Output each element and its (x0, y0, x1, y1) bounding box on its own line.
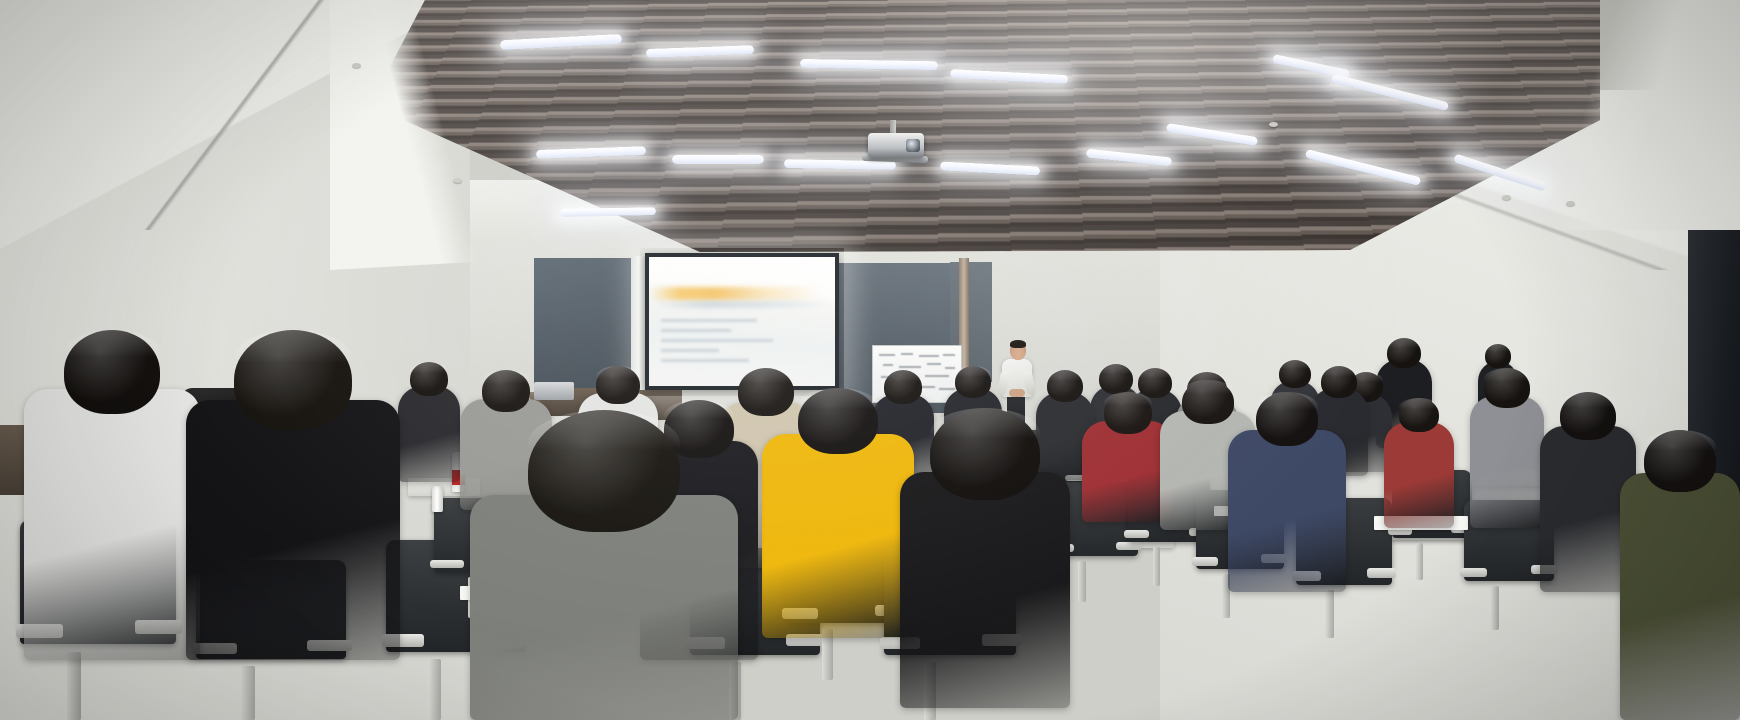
attendee-grey-hood-center-hair-highlight (528, 410, 680, 477)
attendee-red-standing (1384, 398, 1454, 528)
chair-14-base (1491, 586, 1499, 630)
smoke-detector-1-icon (352, 63, 361, 68)
whiteboard-mark-1 (879, 354, 895, 356)
whiteboard-mark-6 (899, 366, 921, 368)
seminar-room-photo (0, 0, 1740, 720)
whiteboard-mark-7 (927, 363, 941, 365)
tube-14 (560, 207, 656, 217)
attendee-yellow-jacket (762, 388, 914, 638)
attendee-stripe-shirt-hair-highlight (482, 370, 530, 393)
attendee-navy-right (1228, 392, 1346, 592)
chair-11-arm-left (1192, 557, 1218, 566)
attendee-far-right-1 (1470, 368, 1544, 528)
attendee-yellow-jacket-torso (762, 434, 914, 638)
tube-8 (672, 155, 764, 164)
attendee-dark-1-hair-highlight (955, 366, 991, 384)
smoke-detector-3-icon (1269, 122, 1278, 127)
chair-10-base (1153, 547, 1160, 586)
water-bottle-small (432, 486, 443, 512)
attendee-dark-suit-left (398, 362, 460, 482)
chair-4-arm-left (430, 560, 464, 568)
chair-14-arm-left (1460, 568, 1487, 577)
attendee-far-right-3 (1620, 430, 1740, 720)
whiteboard-mark-5 (883, 364, 893, 366)
slide-text-line-3 (661, 339, 773, 342)
chair-2-base (241, 666, 255, 720)
slide-text-line-5 (661, 359, 749, 362)
attendee-back-wall-black-hair-highlight (1387, 338, 1421, 355)
attendee-yellow-jacket-hair-highlight (798, 388, 878, 424)
attendee-black-long-hair-hair-highlight (930, 408, 1040, 459)
slide-subheader-band (655, 301, 834, 308)
attendee-suit-front-row-hair-highlight (884, 370, 922, 389)
attendee-dark-suit-left-hair-highlight (410, 362, 448, 381)
attendee-black-hoodie-left (186, 330, 400, 660)
projector-lens-icon (906, 139, 920, 152)
whiteboard-mark-2 (901, 353, 913, 355)
chair-12-base (1325, 590, 1334, 638)
attendee-white-shirt-foreground-hair-highlight (64, 330, 160, 376)
attendee-dark-suit-left-torso (398, 386, 460, 482)
attendee-midright-1-hair-highlight (1279, 360, 1311, 375)
attendee-white-shirt-foreground-torso (24, 389, 200, 660)
attendee-far-right-1-hair-highlight (1484, 368, 1530, 390)
whiteboard-mark-3 (919, 355, 939, 357)
chair-3-base (428, 659, 441, 720)
attendee-blue-back-hair-highlight (596, 366, 640, 387)
slide-text-line-2 (661, 329, 731, 332)
attendee-far-right-3-hair-highlight (1644, 430, 1716, 464)
attendee-dark-5-hair-highlight (1321, 366, 1357, 384)
attendee-black-hoodie-left-hair-highlight (234, 330, 352, 385)
smoke-detector-2-icon (453, 178, 462, 183)
attendee-grey-hood-center (470, 410, 738, 720)
attendee-grey-sweater-hair-highlight (1182, 380, 1234, 404)
whiteboard-mark-4 (943, 354, 955, 356)
attendee-black-long-hair-torso (900, 472, 1070, 708)
smoke-detector-4-icon (1502, 195, 1511, 200)
attendee-far-right-2-hair-highlight (1560, 392, 1616, 418)
slide-text-line-1 (661, 319, 757, 322)
slide-text-line-4 (661, 349, 719, 352)
attendee-black-hoodie-left-torso (186, 400, 400, 660)
ceiling-perimeter-right (1500, 0, 1740, 230)
attendee-navy-right-torso (1228, 430, 1346, 592)
attendee-far-right-4-hair-highlight (1485, 344, 1511, 357)
chair-1-base (67, 652, 81, 720)
attendee-red-standing-torso (1384, 422, 1454, 528)
attendee-dark-2-hair-highlight (1047, 370, 1083, 388)
attendee-red-sweater-hair-highlight (1104, 392, 1152, 415)
presenter-hands (1009, 389, 1025, 397)
presenter-hair (1010, 340, 1026, 348)
attendee-navy-right-hair-highlight (1256, 392, 1318, 422)
projection-screen[interactable] (649, 257, 835, 386)
chair-10-arm-left (1124, 530, 1149, 538)
chair-13-base (1416, 543, 1423, 580)
slide-accent-band (649, 287, 835, 300)
attendee-black-long-hair (900, 408, 1070, 708)
smoke-detector-5-icon (1566, 201, 1575, 206)
attendee-far-right-1-torso (1470, 396, 1544, 528)
attendee-far-right-3-torso (1620, 473, 1740, 720)
chair-9-base (1078, 561, 1086, 602)
attendee-red-standing-hair-highlight (1399, 398, 1439, 417)
attendee-white-shirt-foreground (24, 330, 200, 660)
